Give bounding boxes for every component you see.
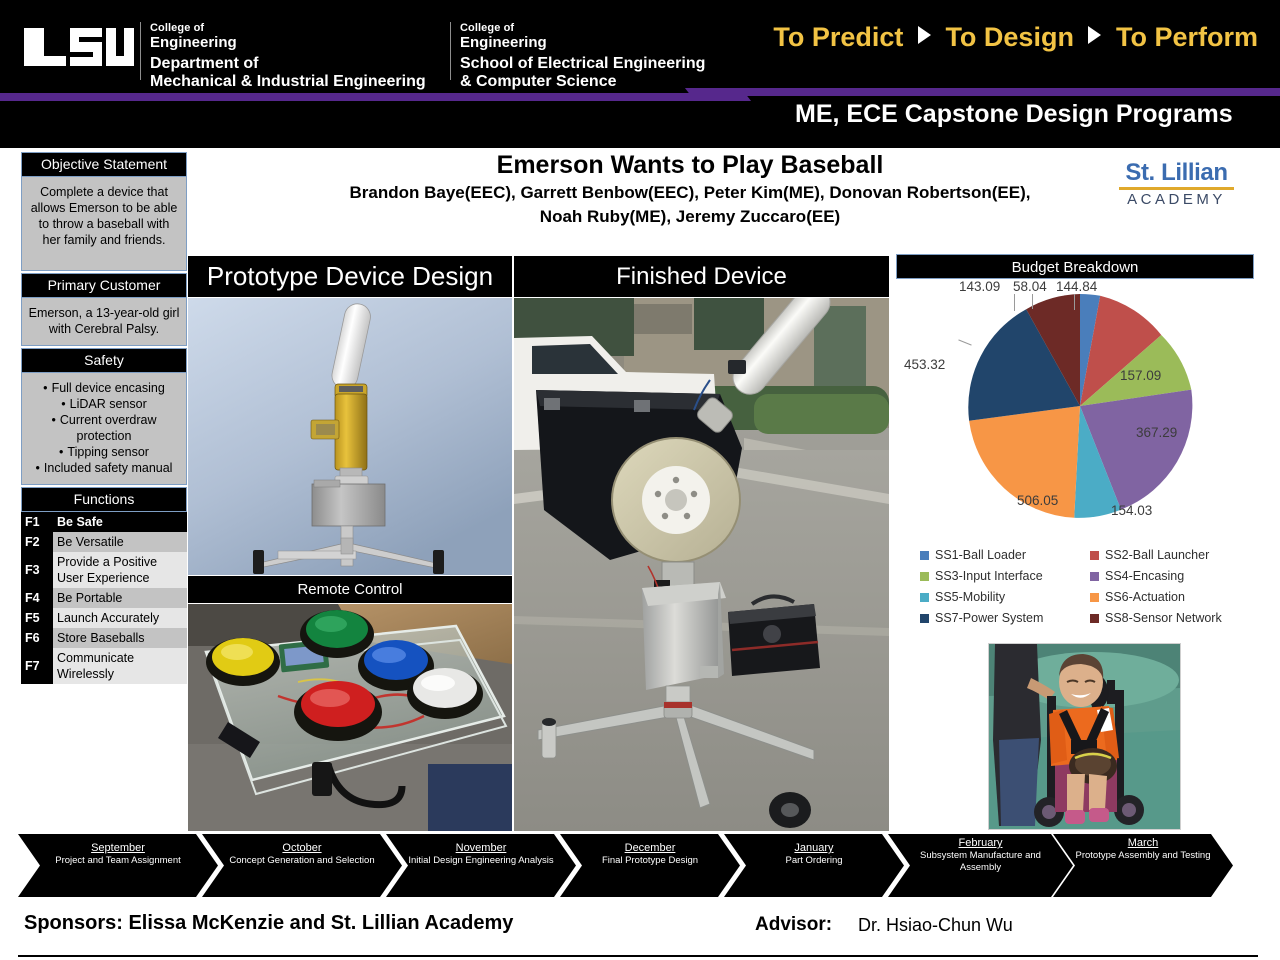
table-row: F6 Store Baseballs <box>21 628 187 648</box>
tagline-predict: To Predict <box>773 22 903 52</box>
table-row: F4 Be Portable <box>21 588 187 608</box>
timeline-month: March <box>1053 836 1233 850</box>
function-code: F5 <box>21 608 53 628</box>
pie-label-ss6: 506.05 <box>1017 493 1058 508</box>
legend-swatch-ss1 <box>920 551 929 560</box>
chart-legend: SS1-Ball Loader SS2-Ball Launcher SS3-In… <box>920 548 1260 625</box>
program-title: ME, ECE Capstone Design Programs <box>795 100 1233 129</box>
legend-label-ss1: SS1-Ball Loader <box>935 548 1026 562</box>
function-code: F4 <box>21 588 53 608</box>
header-divider-1 <box>140 22 141 80</box>
safety-header: Safety <box>21 348 187 373</box>
page-title: Emerson Wants to Play Baseball <box>190 150 1190 180</box>
safety-item: Current overdraw protection <box>28 412 180 444</box>
purple-bar-right <box>735 88 1280 96</box>
dept-mechanical: College of Engineering Department of Mec… <box>150 22 426 91</box>
primary-customer-body: Emerson, a 13-year-old girl with Cerebra… <box>21 298 187 346</box>
advisor-name: Dr. Hsiao-Chun Wu <box>858 915 1013 936</box>
function-label: Be Safe <box>53 512 187 532</box>
emerson-photo <box>989 644 1180 829</box>
safety-item: Included safety manual <box>28 460 180 476</box>
prototype-panel-header: Prototype Device Design <box>188 256 512 297</box>
primary-customer-header: Primary Customer <box>21 273 187 298</box>
timeline-step-september: September Project and Team Assignment <box>18 834 218 897</box>
timeline-month: January <box>724 841 904 855</box>
objective-statement-header: Objective Statement <box>21 152 187 177</box>
timeline-step-january: January Part Ordering <box>724 834 904 897</box>
timeline-month: February <box>888 836 1073 850</box>
functions-header: Functions <box>21 487 187 512</box>
emerson-drawing <box>989 644 1180 829</box>
customer-photo <box>988 643 1181 830</box>
function-label: Launch Accurately <box>53 608 187 628</box>
function-label: Store Baseballs <box>53 628 187 648</box>
finished-panel-header: Finished Device <box>514 256 889 297</box>
table-row: F2 Be Versatile <box>21 532 187 552</box>
legend-label-ss6: SS6-Actuation <box>1105 590 1185 604</box>
function-code: F1 <box>21 512 53 532</box>
sponsors-text: Sponsors: Elissa McKenzie and St. Lillia… <box>24 912 513 935</box>
legend-item-ss5: SS5-Mobility <box>920 590 1090 604</box>
function-code: F2 <box>21 532 53 552</box>
table-row: F3 Provide a Positive User Experience <box>21 552 187 588</box>
header-tagline: To Predict To Design To Perform <box>773 22 1258 53</box>
purple-bar-left <box>0 93 700 101</box>
dept1-college: College of <box>150 22 426 34</box>
timeline-step-december: December Final Prototype Design <box>560 834 740 897</box>
legend-swatch-ss3 <box>920 572 929 581</box>
timeline-step-march: March Prototype Assembly and Testing <box>1053 834 1233 897</box>
poster-title-block: Emerson Wants to Play Baseball Brandon B… <box>190 150 1190 228</box>
poster-header: College of Engineering Department of Mec… <box>0 0 1280 148</box>
pie-label-ss4: 367.29 <box>1136 425 1177 440</box>
safety-list: Full device encasing LiDAR sensor Curren… <box>28 380 180 476</box>
leader-line-ss7 <box>958 339 971 345</box>
pie-label-ss5: 154.03 <box>1111 503 1152 518</box>
remote-panel-header: Remote Control <box>188 576 512 603</box>
tagline-perform: To Perform <box>1116 22 1258 52</box>
timeline-desc: Final Prototype Design <box>560 855 740 867</box>
legend-label-ss7: SS7-Power System <box>935 611 1043 625</box>
dept1-department: Department of <box>150 55 426 73</box>
dept2-engineering: Engineering <box>460 34 705 51</box>
legend-swatch-ss8 <box>1090 614 1099 623</box>
timeline-desc: Concept Generation and Selection <box>202 855 402 867</box>
legend-item-ss6: SS6-Actuation <box>1090 590 1260 604</box>
dept2-college: College of <box>460 22 705 34</box>
remote-drawing <box>188 604 512 831</box>
st-lillian-name: St. Lillian <box>1104 160 1249 186</box>
header-divider-2 <box>450 22 451 80</box>
safety-item: Full device encasing <box>28 380 180 396</box>
author-line-2: Noah Ruby(ME), Jeremy Zuccaro(EE) <box>190 205 1190 228</box>
objective-statement-body: Complete a device that allows Emerson to… <box>21 177 187 271</box>
legend-label-ss2: SS2-Ball Launcher <box>1105 548 1209 562</box>
remote-control-image <box>188 604 512 831</box>
finished-device-image <box>514 298 889 831</box>
finished-device-photo <box>514 298 889 831</box>
poster-footer: Sponsors: Elissa McKenzie and St. Lillia… <box>0 900 1280 960</box>
remote-photo <box>188 604 512 831</box>
function-label: Be Versatile <box>53 532 187 552</box>
poster-body: Objective Statement Complete a device th… <box>0 148 1280 960</box>
timeline-desc: Subsystem Manufacture and Assembly <box>888 850 1073 874</box>
pie-label-ss8: 143.09 <box>959 279 1000 294</box>
legend-swatch-ss2 <box>1090 551 1099 560</box>
sidebar: Objective Statement Complete a device th… <box>21 152 187 684</box>
pie-slices <box>968 294 1192 518</box>
function-label: Communicate Wirelessly <box>53 648 187 684</box>
timeline-month: October <box>202 841 402 855</box>
legend-item-ss8: SS8-Sensor Network <box>1090 611 1260 625</box>
st-lillian-academy-word: ACADEMY <box>1104 192 1249 208</box>
lsu-logo <box>22 26 134 68</box>
timeline-month: December <box>560 841 740 855</box>
table-row: F7 Communicate Wirelessly <box>21 648 187 684</box>
function-code: F7 <box>21 648 53 684</box>
pie-label-ss3: 157.09 <box>1120 368 1161 383</box>
legend-label-ss3: SS3-Input Interface <box>935 569 1043 583</box>
timeline-month: September <box>18 841 218 855</box>
function-code: F6 <box>21 628 53 648</box>
legend-swatch-ss5 <box>920 593 929 602</box>
leader-line-ss1 <box>1032 294 1033 309</box>
safety-body: Full device encasing LiDAR sensor Curren… <box>21 373 187 485</box>
legend-swatch-ss6 <box>1090 593 1099 602</box>
timeline-desc: Part Ordering <box>724 855 904 867</box>
author-line-1: Brandon Baye(EEC), Garrett Benbow(EEC), … <box>190 181 1190 204</box>
legend-item-ss4: SS4-Encasing <box>1090 569 1260 583</box>
function-code: F3 <box>21 552 53 588</box>
dept-electrical: College of Engineering School of Electri… <box>460 22 705 91</box>
legend-label-ss5: SS5-Mobility <box>935 590 1005 604</box>
project-timeline: September Project and Team Assignment Oc… <box>18 834 1233 897</box>
st-lillian-academy-logo: St. Lillian ACADEMY <box>1104 160 1249 222</box>
budget-panel-header: Budget Breakdown <box>896 254 1254 279</box>
prototype-device-image <box>188 298 512 575</box>
timeline-desc: Prototype Assembly and Testing <box>1053 850 1233 862</box>
pie-chart <box>966 292 1194 520</box>
legend-label-ss8: SS8-Sensor Network <box>1105 611 1222 625</box>
dept2-school: School of Electrical Engineering <box>460 55 705 73</box>
timeline-step-february: February Subsystem Manufacture and Assem… <box>888 834 1073 897</box>
table-row: F5 Launch Accurately <box>21 608 187 628</box>
finished-device-drawing <box>514 298 889 831</box>
pie-label-ss7: 453.32 <box>904 357 945 372</box>
pie-label-ss1: 58.04 <box>1013 279 1047 294</box>
advisor-label: Advisor: <box>755 914 832 936</box>
legend-item-ss7: SS7-Power System <box>920 611 1090 625</box>
footer-divider <box>18 955 1258 957</box>
logo-rule <box>1119 187 1234 190</box>
legend-label-ss4: SS4-Encasing <box>1105 569 1184 583</box>
leader-line-ss8 <box>1014 294 1015 311</box>
legend-swatch-ss7 <box>920 614 929 623</box>
arrow-right-icon <box>918 26 931 44</box>
leader-line-ss2 <box>1074 294 1075 310</box>
tagline-design: To Design <box>945 22 1074 52</box>
timeline-month: November <box>386 841 576 855</box>
timeline-desc: Initial Design Engineering Analysis <box>386 855 576 867</box>
dept1-engineering: Engineering <box>150 34 426 51</box>
cad-drawing <box>188 298 512 575</box>
functions-table: F1 Be Safe F2 Be Versatile F3 Provide a … <box>21 512 187 684</box>
safety-item: Tipping sensor <box>28 444 180 460</box>
arrow-right-icon-2 <box>1088 26 1101 44</box>
safety-item: LiDAR sensor <box>28 396 180 412</box>
budget-chart: 58.04 144.84 157.09 367.29 154.03 506.05… <box>896 280 1254 550</box>
function-label: Be Portable <box>53 588 187 608</box>
timeline-step-october: October Concept Generation and Selection <box>202 834 402 897</box>
table-row: F1 Be Safe <box>21 512 187 532</box>
pie-label-ss2: 144.84 <box>1056 279 1097 294</box>
timeline-step-november: November Initial Design Engineering Anal… <box>386 834 576 897</box>
function-label: Provide a Positive User Experience <box>53 552 187 588</box>
legend-item-ss3: SS3-Input Interface <box>920 569 1090 583</box>
legend-item-ss2: SS2-Ball Launcher <box>1090 548 1260 562</box>
cad-render <box>188 298 512 575</box>
timeline-desc: Project and Team Assignment <box>18 855 218 867</box>
legend-item-ss1: SS1-Ball Loader <box>920 548 1090 562</box>
legend-swatch-ss4 <box>1090 572 1099 581</box>
